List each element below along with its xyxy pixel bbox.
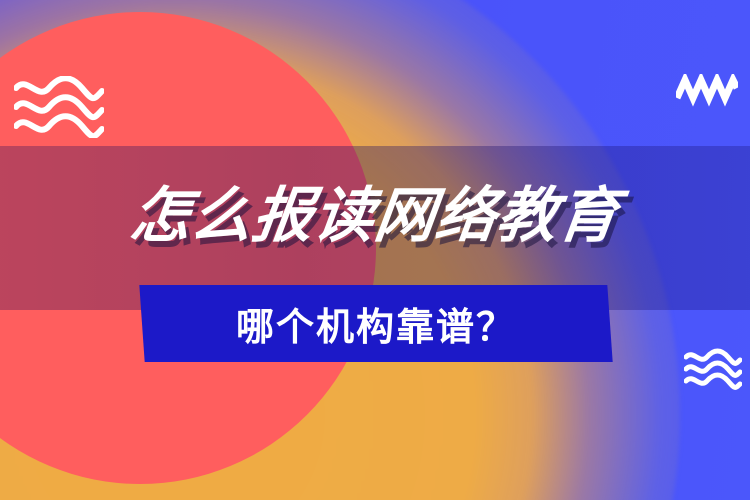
promo-banner: 怎么报读网络教育 哪个机构靠谱？ xyxy=(0,0,750,500)
banner-subtitle: 哪个机构靠谱？ xyxy=(142,285,610,362)
wave-lines-icon xyxy=(684,348,742,394)
wave-lines-icon xyxy=(14,76,104,142)
banner-title: 怎么报读网络教育 xyxy=(0,186,750,246)
zigzag-lines-icon xyxy=(676,74,738,112)
